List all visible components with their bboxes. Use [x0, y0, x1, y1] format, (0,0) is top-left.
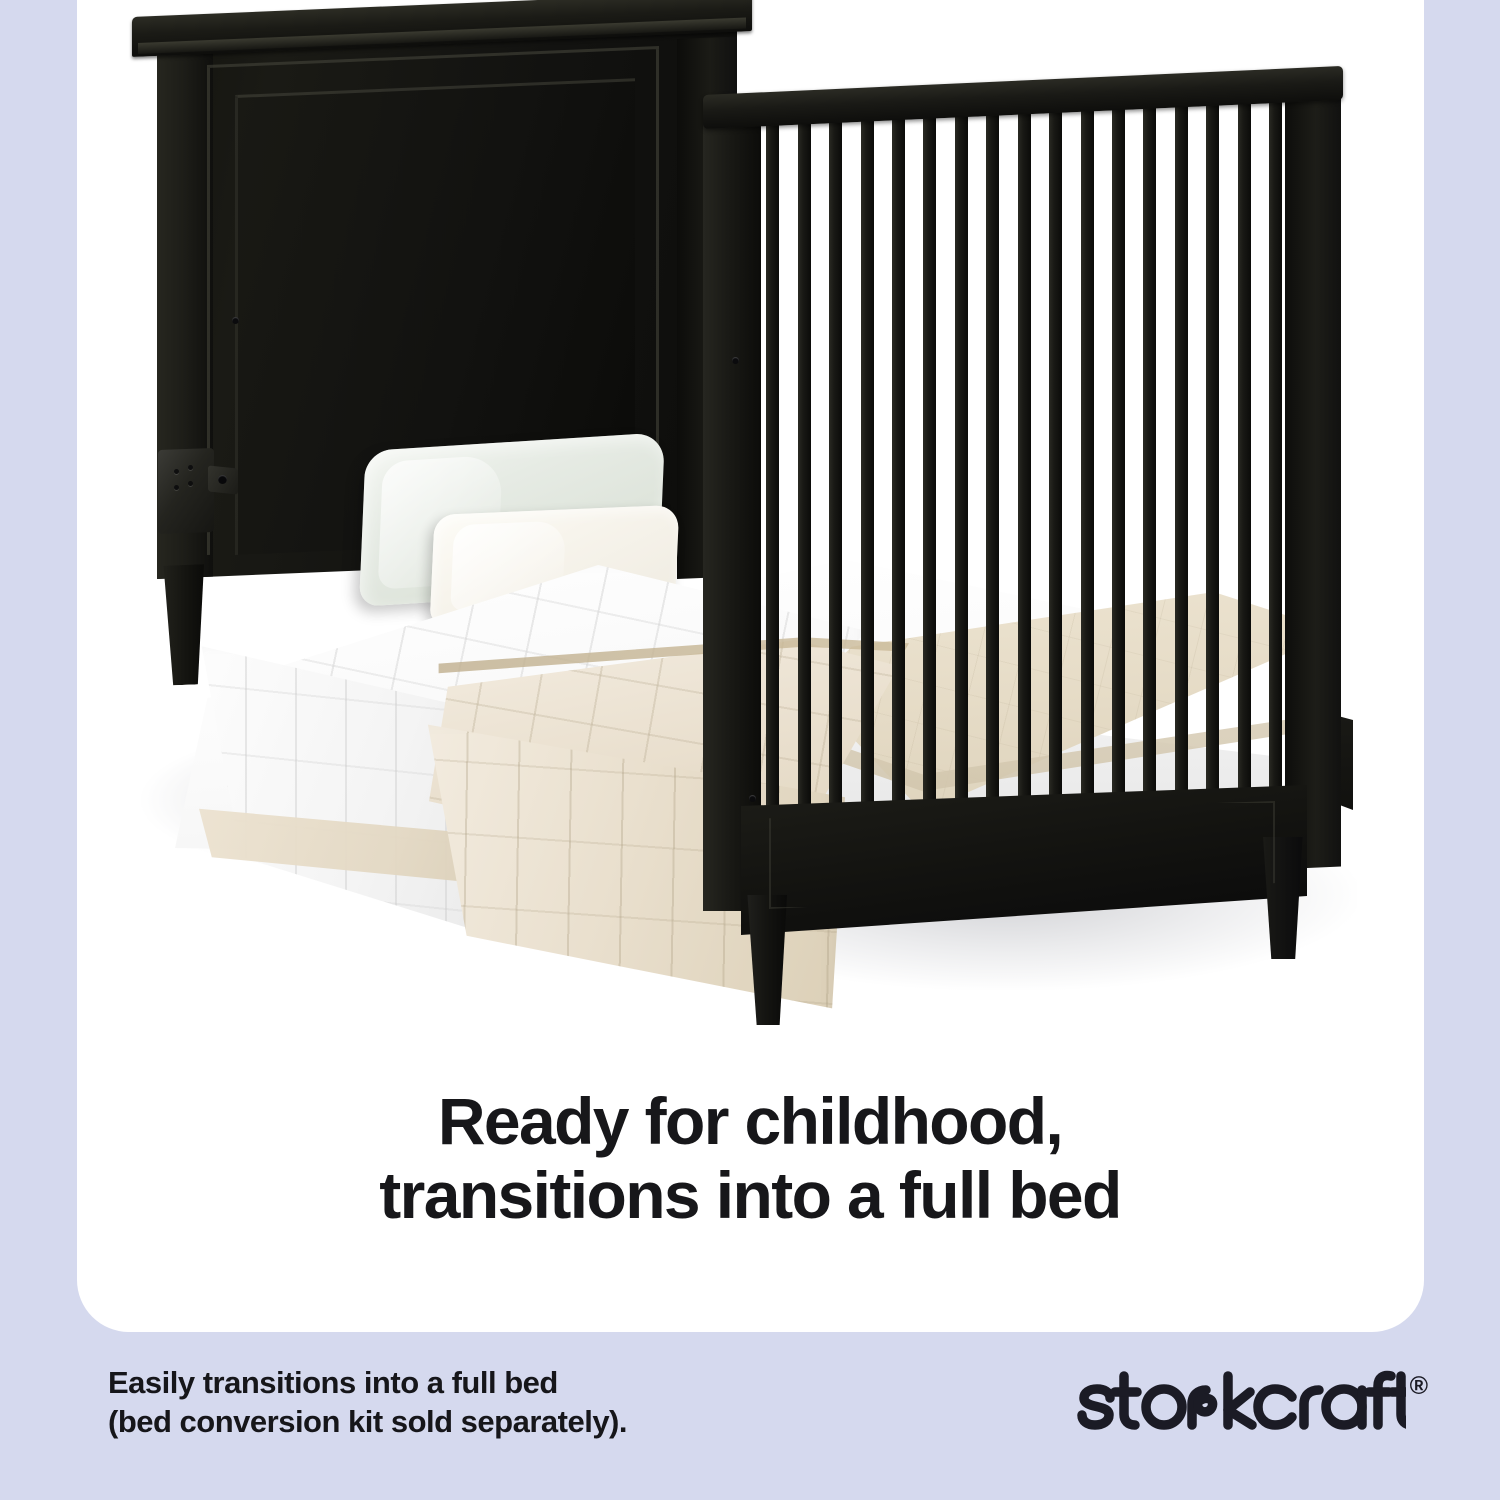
footer-caption-line-1: Easily transitions into a full bed: [108, 1363, 627, 1402]
bracket-screw-dot: [188, 481, 193, 486]
footboard-slat: [766, 114, 779, 815]
footboard-slat: [1206, 94, 1219, 795]
headboard-leg: [160, 564, 204, 686]
registered-trademark-icon: ®: [1410, 1374, 1428, 1399]
footboard-left-post: [703, 111, 761, 911]
product-photo: [77, 0, 1424, 1000]
footboard-slat: [1018, 103, 1031, 804]
footer-caption-line-2: (bed conversion kit sold separately).: [108, 1402, 627, 1441]
footboard-slat: [923, 107, 936, 808]
headboard-screw: [732, 357, 739, 364]
page-title: Ready for childhood, transitions into a …: [0, 1085, 1500, 1233]
footboard-slat: [829, 111, 842, 812]
bracket-screw-dot: [188, 465, 193, 470]
footboard-slat: [986, 104, 999, 805]
footboard-slat: [1049, 101, 1062, 802]
footboard-slat: [1238, 93, 1251, 794]
footboard-slat: [1269, 91, 1282, 792]
footboard-slat: [861, 110, 874, 811]
footboard-slat: [1081, 100, 1094, 801]
footboard-slat: [1143, 97, 1156, 798]
footboard-slat-group: [757, 91, 1291, 815]
headline-line-1: Ready for childhood,: [0, 1085, 1500, 1159]
headboard-mounting-bracket: [158, 448, 214, 534]
brand-logo: ®: [1076, 1368, 1428, 1442]
footboard-right-post: [1285, 86, 1341, 869]
storkcraft-wordmark-icon: [1076, 1368, 1406, 1442]
footboard-slat: [798, 113, 811, 814]
footboard-slat: [892, 108, 905, 809]
footboard-screw: [749, 795, 756, 802]
headline-line-2: transitions into a full bed: [0, 1159, 1500, 1233]
headboard-screw: [232, 317, 239, 324]
footboard-slat: [1112, 98, 1125, 799]
footboard: [697, 95, 1357, 965]
bracket-screw-dot: [174, 485, 179, 490]
footboard-slat: [955, 105, 968, 806]
bracket-screw-dot: [174, 469, 179, 474]
headboard-bracket-hole: [218, 475, 227, 484]
footboard-slat: [1175, 95, 1188, 796]
footer-caption: Easily transitions into a full bed (bed …: [108, 1363, 627, 1441]
